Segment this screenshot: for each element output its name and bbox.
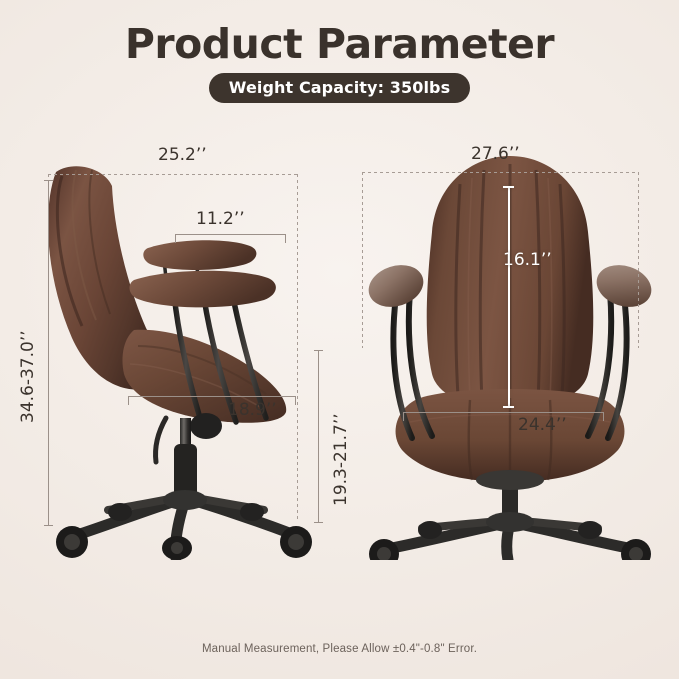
weight-capacity-badge-wrap: Weight Capacity: 350lbs — [0, 73, 679, 103]
page-title: Product Parameter — [0, 18, 679, 70]
chair-side-view — [38, 150, 328, 560]
dimension-armrest-width: 11.2’’ — [196, 209, 245, 229]
tick-backrest-top — [503, 186, 514, 188]
chair-front-view-svg — [360, 150, 660, 560]
guide-line-overall-width-front — [362, 172, 638, 173]
chair-front-view — [360, 150, 660, 560]
dimension-backrest-height: 16.1’’ — [503, 250, 552, 270]
guide-line-overall-width-left — [48, 174, 298, 175]
caster — [418, 521, 442, 539]
armrest-right — [591, 258, 657, 313]
tick-height-top — [44, 180, 53, 181]
armrest-upper — [143, 240, 256, 270]
product-parameter-image: Product Parameter Weight Capacity: 350lb… — [0, 0, 679, 679]
tick-backrest-bottom — [503, 406, 514, 408]
height-lever — [155, 418, 166, 462]
tick-seat-depth-left — [128, 396, 129, 405]
armrest-left — [363, 258, 429, 313]
tick-seat-height-bottom — [314, 522, 323, 523]
tick-armrest-left — [175, 234, 176, 243]
guide-line-seat-depth — [128, 396, 295, 397]
dimension-overall-width-front: 27.6’’ — [471, 144, 520, 164]
gas-cylinder-shaft — [180, 418, 191, 446]
guide-line-armrest-width — [175, 234, 285, 235]
caster — [240, 503, 264, 521]
tick-seat-height-top — [314, 350, 323, 351]
guide-line-overall-height — [48, 180, 49, 525]
guide-line-front-left-edge — [362, 172, 363, 348]
dimension-base-width: 24.4’’ — [518, 415, 567, 435]
dimension-overall-width-side: 25.2’’ — [158, 145, 207, 165]
tick-seat-depth-right — [295, 396, 296, 405]
tick-armrest-right — [285, 234, 286, 243]
tilt-knob — [190, 413, 222, 439]
chair-base-front — [369, 512, 651, 560]
guide-line-base-width — [403, 412, 603, 413]
guide-line-seat-height — [318, 350, 319, 522]
caster — [578, 521, 602, 539]
dimension-seat-depth: 18.9’’ — [228, 400, 277, 420]
dimension-seat-height: 19.3-21.7’’ — [331, 413, 351, 506]
guide-line-right-edge — [297, 174, 298, 519]
armrest-lower — [129, 271, 275, 308]
guide-line-backrest-height — [508, 186, 510, 408]
caster — [108, 503, 132, 521]
weight-capacity-badge: Weight Capacity: 350lbs — [209, 73, 470, 103]
chair-base-side — [56, 490, 312, 560]
tick-base-left — [403, 412, 404, 421]
chair-side-view-svg — [38, 150, 328, 560]
measurement-note: Manual Measurement, Please Allow ±0.4"-0… — [0, 643, 679, 655]
guide-line-front-right-edge — [638, 172, 639, 348]
tick-base-right — [603, 412, 604, 421]
dimension-overall-height: 34.6-37.0’’ — [18, 330, 38, 423]
tick-height-bottom — [44, 525, 53, 526]
